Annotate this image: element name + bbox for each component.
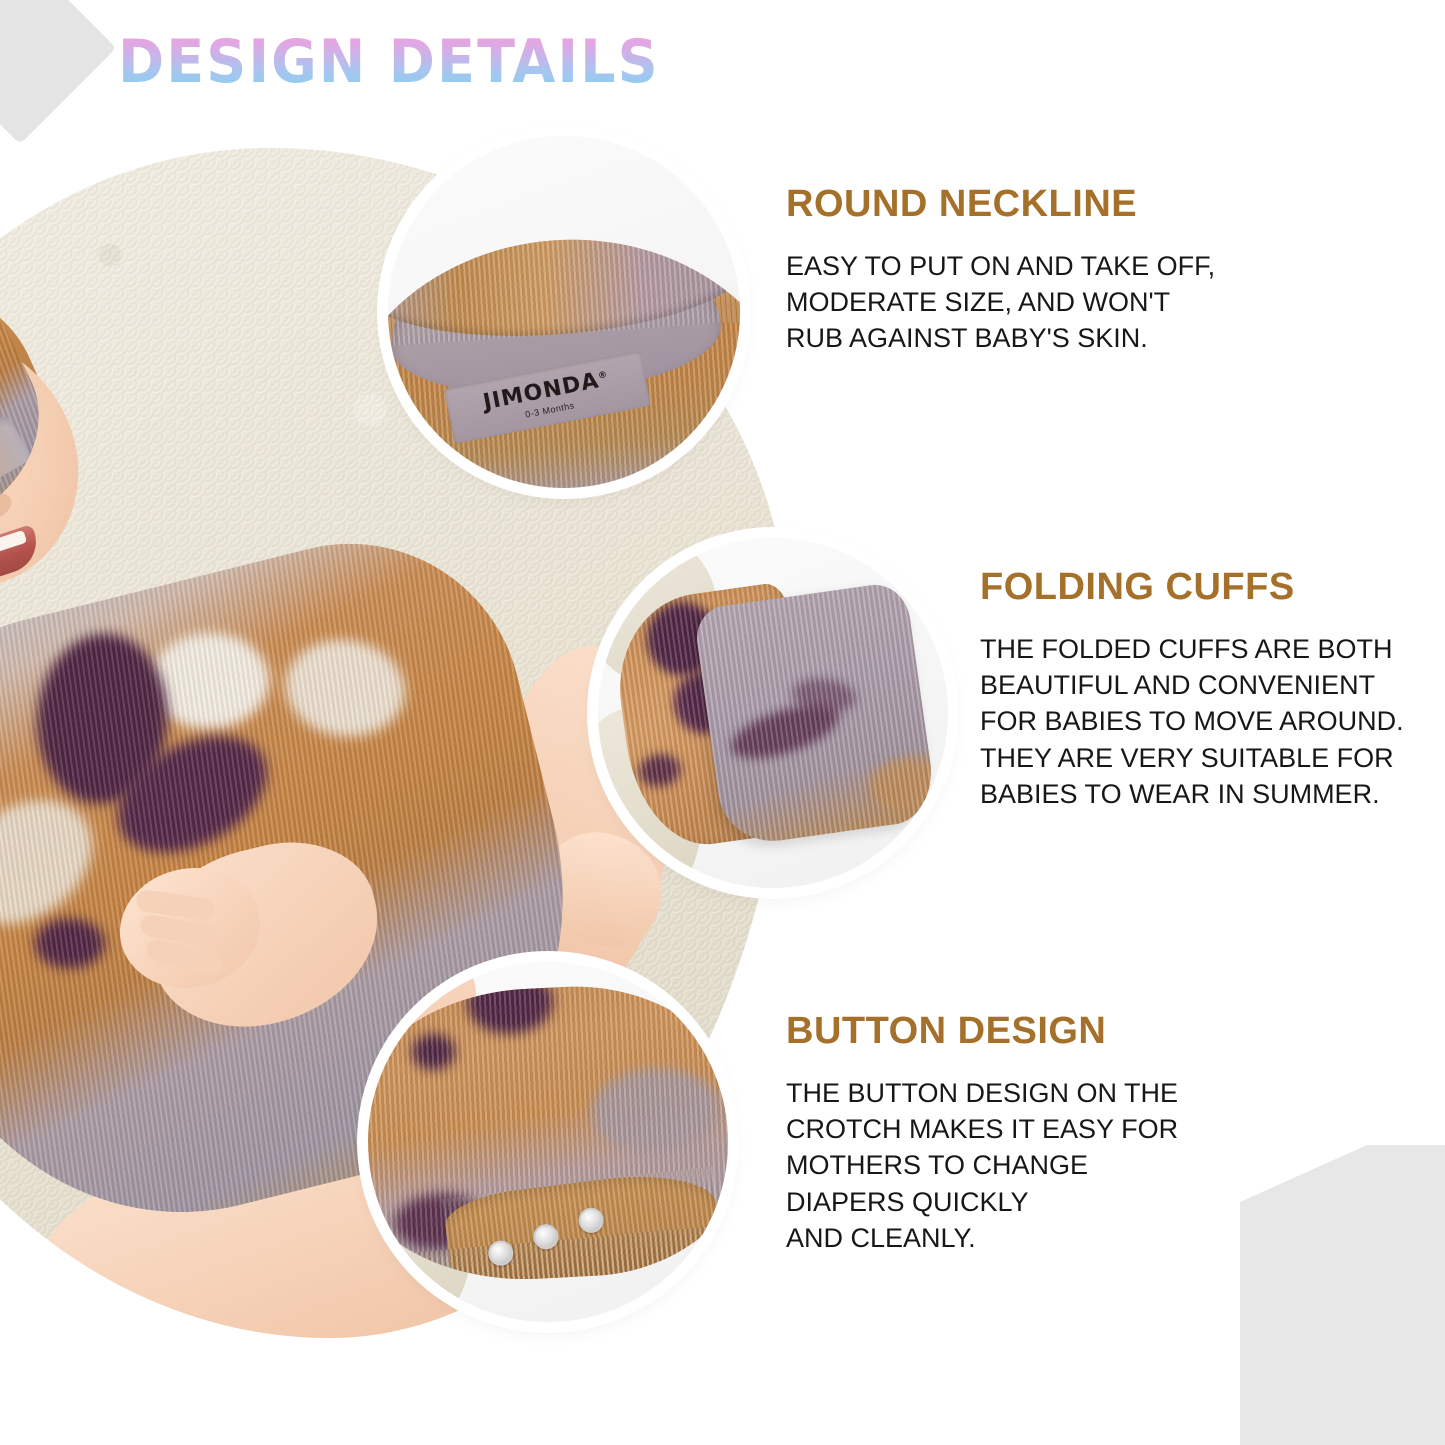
detail-photo-neckline: JIMONDA® 0-3 Months xyxy=(388,136,740,488)
decorative-diamond-icon xyxy=(0,0,116,144)
feature-block-folding-cuffs: FOLDING CUFFS THE FOLDED CUFFS ARE BOTH … xyxy=(980,568,1404,812)
tie-dye-blot xyxy=(866,753,938,815)
feature-body-line: MOTHERS TO CHANGE xyxy=(786,1147,1178,1183)
feature-body-line: THE FOLDED CUFFS ARE BOTH xyxy=(980,631,1404,667)
page-title: DESIGN DETAILS xyxy=(118,27,660,97)
infographic-canvas: DESIGN DETAILS DESIGN DETAILS xyxy=(0,0,1445,1445)
feature-body-line: MODERATE SIZE, AND WON'T xyxy=(786,284,1215,320)
crotch-garment xyxy=(368,978,728,1289)
feature-heading: ROUND NECKLINE xyxy=(786,185,1215,223)
tie-dye-blot xyxy=(411,1033,457,1071)
feature-body-line: RUB AGAINST BABY'S SKIN. xyxy=(786,320,1215,356)
feature-body-line: BABIES TO WEAR IN SUMMER. xyxy=(980,776,1404,812)
feature-block-button-design: BUTTON DESIGN THE BUTTON DESIGN ON THE C… xyxy=(786,1012,1178,1256)
feature-body-line: BEAUTIFUL AND CONVENIENT xyxy=(980,667,1404,703)
detail-photo-button xyxy=(368,962,728,1322)
feature-heading: FOLDING CUFFS xyxy=(980,568,1404,606)
sleeve-folded-face xyxy=(693,581,938,848)
feature-body-line: DIAPERS QUICKLY xyxy=(786,1184,1178,1220)
baby-teeth xyxy=(0,530,27,562)
feature-body: THE FOLDED CUFFS ARE BOTH BEAUTIFUL AND … xyxy=(980,631,1404,812)
feature-body-line: CROTCH MAKES IT EASY FOR xyxy=(786,1111,1178,1147)
feature-body-line: THEY ARE VERY SUITABLE FOR xyxy=(980,740,1404,776)
feature-heading: BUTTON DESIGN xyxy=(786,1012,1178,1050)
neckline-garment: JIMONDA® 0-3 Months xyxy=(388,224,740,488)
tie-dye-blot xyxy=(589,1065,723,1156)
tie-dye-blot xyxy=(637,752,683,790)
feature-body-line: FOR BABIES TO MOVE AROUND. xyxy=(980,703,1404,739)
feature-body-line: THE BUTTON DESIGN ON THE xyxy=(786,1075,1178,1111)
feature-body: THE BUTTON DESIGN ON THE CROTCH MAKES IT… xyxy=(786,1075,1178,1256)
feature-body-line: AND CLEANLY. xyxy=(786,1220,1178,1256)
decorative-corner-shape xyxy=(1240,1145,1445,1445)
feature-body-line: EASY TO PUT ON AND TAKE OFF, xyxy=(786,248,1215,284)
feature-body: EASY TO PUT ON AND TAKE OFF, MODERATE SI… xyxy=(786,248,1215,357)
registered-mark-icon: ® xyxy=(597,369,609,381)
feature-block-round-neckline: ROUND NECKLINE EASY TO PUT ON AND TAKE O… xyxy=(786,185,1215,357)
folded-cuff-piece xyxy=(607,558,942,869)
detail-photo-cuff xyxy=(598,538,948,888)
